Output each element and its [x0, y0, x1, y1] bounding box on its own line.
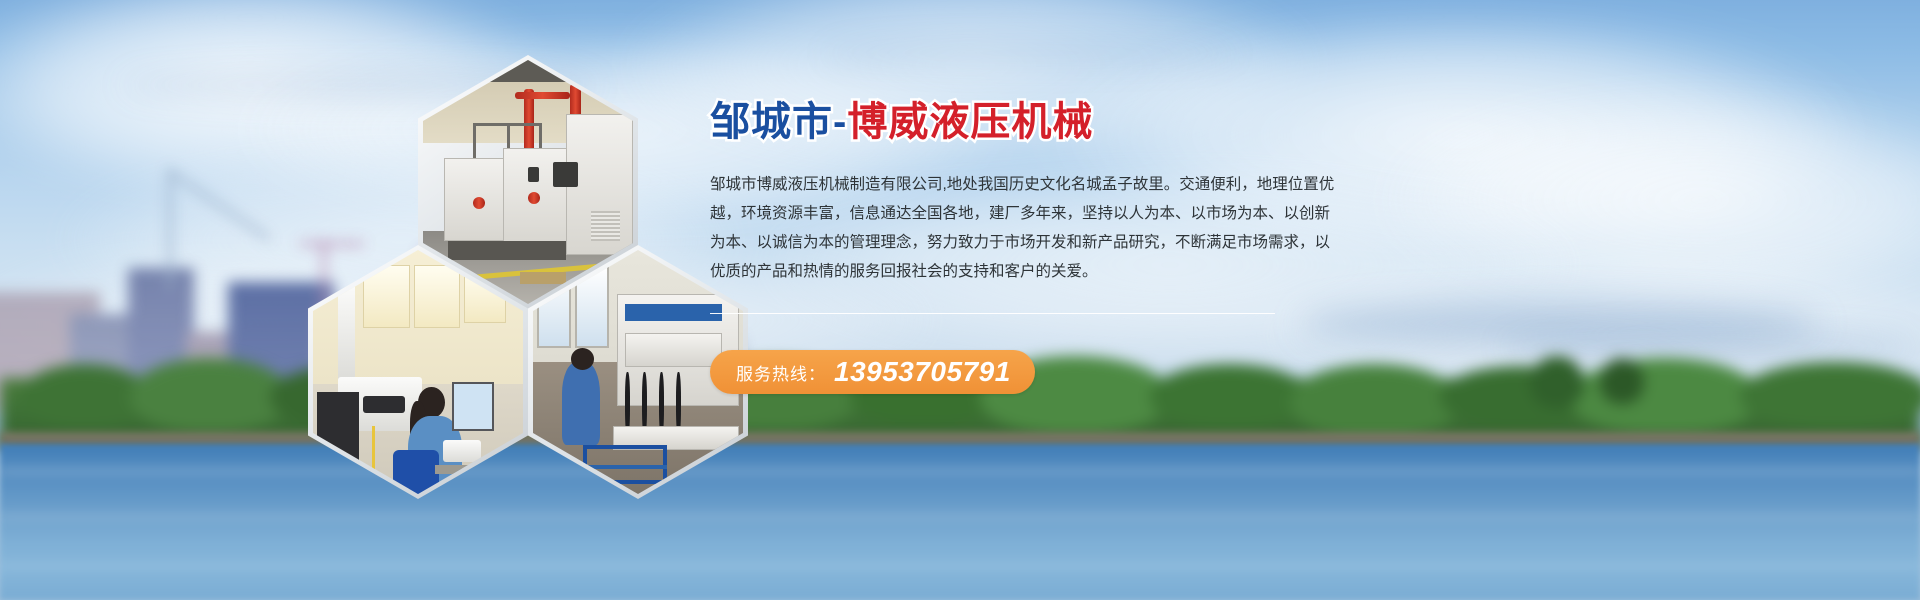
- service-hotline-button[interactable]: 服务热线： 13953705791: [710, 350, 1035, 394]
- description-line: 优质的产品和热情的服务回报社会的支持和客户的关爱。: [710, 257, 1280, 286]
- computer-monitor: [452, 382, 494, 431]
- office-chair: [393, 450, 439, 494]
- bush: [1290, 364, 1460, 438]
- lab-window: [363, 265, 409, 328]
- title-prefix: 邹城市-: [710, 100, 847, 144]
- water-highlight: [0, 562, 1920, 568]
- control-panel: [553, 162, 578, 186]
- description-line: 为本、以诚信为本的管理理念，努力致力于市场开发和新产品研究，不断满足市场需求，以: [710, 228, 1280, 257]
- description-line: 越，环境资源丰富，信息通达全国各地，建厂多年来，坚持以人为本、以市场为本、以创新: [710, 199, 1280, 228]
- page-title: 邹城市-博威液压机械: [710, 100, 1310, 144]
- lab-window: [414, 265, 460, 328]
- cloud-shape: [1380, 90, 1920, 310]
- water-highlight: [0, 514, 1920, 520]
- banner-content: 邹城市-博威液压机械 邹城市博威液压机械制造有限公司,地处我国历史文化名城孟子故…: [710, 100, 1310, 394]
- hexagon-photo-cluster: [300, 55, 700, 455]
- tree-crown: [1530, 356, 1584, 408]
- tree-crown: [1600, 358, 1644, 404]
- bush: [1740, 362, 1920, 428]
- red-crane-beam: [515, 92, 570, 99]
- gauge-panel: [625, 333, 722, 367]
- sky-streak: [820, 40, 1240, 66]
- horizontal-divider: [710, 313, 1275, 314]
- equipment-column: [338, 284, 355, 382]
- tool-cart-shelf: [583, 465, 667, 469]
- construction-crane-arm: [169, 170, 271, 240]
- machine-base: [448, 241, 566, 261]
- machine-handwheel: [528, 192, 540, 204]
- technician-head: [571, 348, 594, 370]
- machine-handwheel: [473, 197, 485, 209]
- cable-yellow: [372, 426, 375, 475]
- bush: [130, 358, 290, 432]
- technician: [562, 362, 600, 445]
- control-strip: [363, 396, 405, 413]
- pallet: [520, 272, 566, 284]
- title-brand: 博威液压机械: [847, 100, 1093, 144]
- hotline-number: 13953705791: [834, 356, 1011, 388]
- hotline-label: 服务热线：: [736, 360, 826, 385]
- description-line: 邹城市博威液压机械制造有限公司,地处我国历史文化名城孟子故里。交通便利，地理位置…: [710, 170, 1280, 199]
- river-water: [0, 444, 1920, 600]
- company-description: 邹城市博威液压机械制造有限公司,地处我国历史文化名城孟子故里。交通便利，地理位置…: [710, 170, 1280, 286]
- workshop-ceiling: [423, 60, 633, 82]
- water-highlight: [0, 468, 1920, 474]
- bush: [1570, 358, 1760, 434]
- equipment-label-banner: [625, 304, 722, 321]
- control-panel: [528, 167, 539, 182]
- company-profile-banner: 邹城市-博威液压机械 邹城市博威液压机械制造有限公司,地处我国历史文化名城孟子故…: [0, 0, 1920, 600]
- ventilation-grill: [591, 211, 620, 240]
- desk-printer: [443, 440, 481, 462]
- construction-crane: [168, 168, 172, 288]
